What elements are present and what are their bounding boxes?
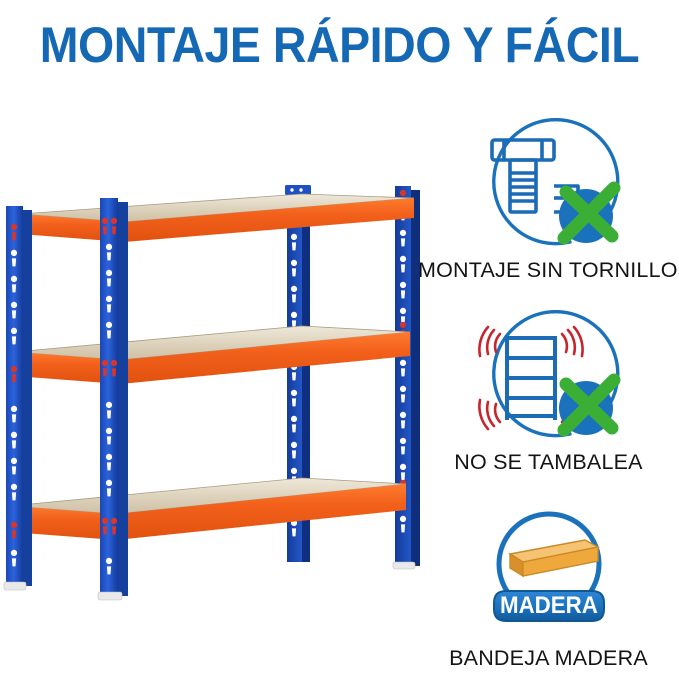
wood-plank-glyph — [510, 540, 598, 576]
shelf-level-3 — [10, 478, 406, 540]
shelf-level-2 — [14, 326, 410, 384]
feature-montaje-sin-tornillos: MONTAJE SIN TORNILLOS — [418, 118, 679, 283]
madera-banner-badge: MADERA — [494, 591, 604, 621]
upright-front-left — [4, 206, 32, 590]
feature-label: BANDEJA MADERA — [418, 645, 679, 671]
product-illustration-shelving-unit — [2, 176, 432, 606]
shelf-glyph — [507, 336, 555, 420]
green-cross-badge-icon — [559, 188, 614, 243]
upright-front-middle — [98, 198, 128, 600]
feature-no-se-tambalea: NO SE TAMBALEA — [418, 310, 679, 475]
green-cross-badge-icon — [559, 380, 614, 435]
shelving-unit-svg — [2, 176, 432, 606]
wood-board-icon: MADERA — [418, 502, 679, 637]
bolt-no-screws-icon — [418, 118, 679, 253]
shelf-wobble-icon — [418, 310, 679, 445]
page-title: MONTAJE RÁPIDO Y FÁCIL — [24, 16, 655, 74]
feature-label: MONTAJE SIN TORNILLOS — [418, 257, 679, 283]
upright-rear-right — [393, 186, 420, 569]
feature-bandeja-madera: MADERA BANDEJA MADERA — [418, 502, 679, 671]
madera-badge-text: MADERA — [500, 591, 598, 618]
shelf-level-1 — [20, 194, 414, 242]
infographic-page: MONTAJE RÁPIDO Y FÁCIL — [0, 0, 679, 679]
feature-label: NO SE TAMBALEA — [418, 449, 679, 475]
